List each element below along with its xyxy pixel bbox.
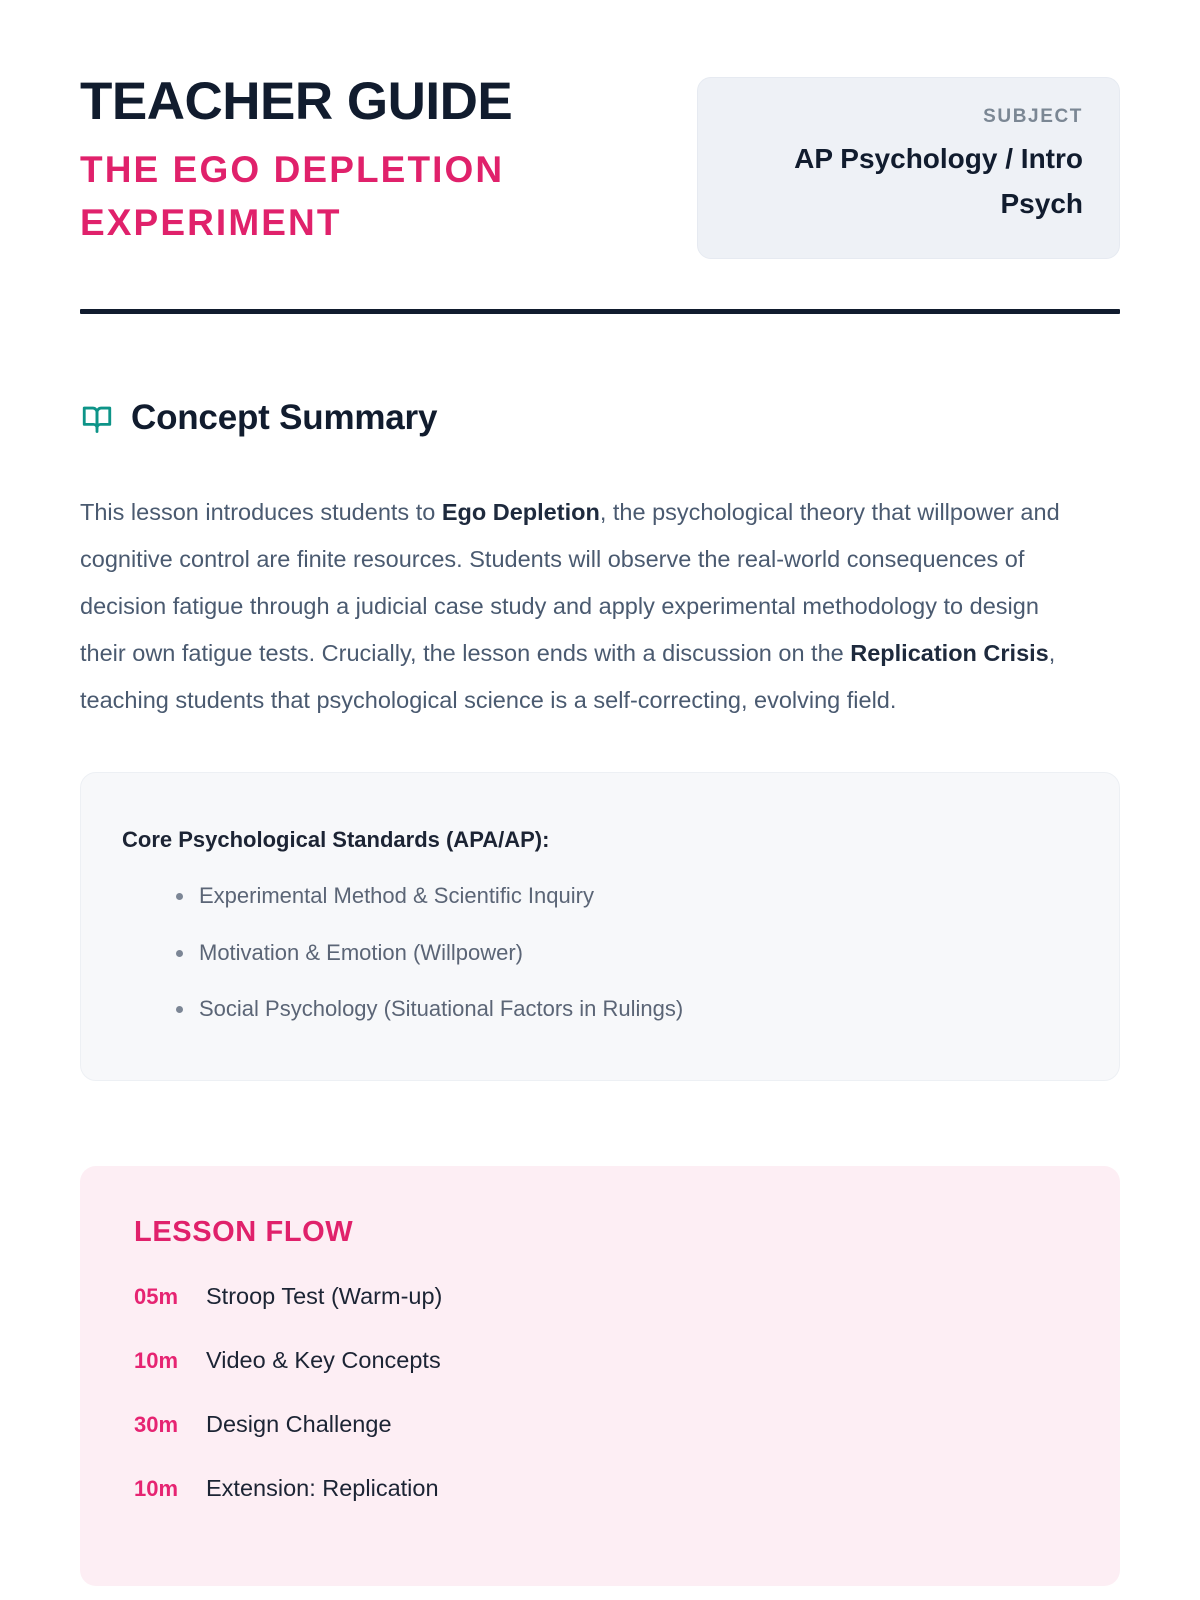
subject-value: AP Psychology / Intro Psych bbox=[734, 137, 1083, 227]
concept-summary-heading: Concept Summary bbox=[80, 398, 1120, 438]
lesson-flow-card: LESSON FLOW 05m Stroop Test (Warm-up) 10… bbox=[80, 1166, 1120, 1586]
lesson-flow-row: 10m Video & Key Concepts bbox=[134, 1347, 1066, 1374]
standards-box: Core Psychological Standards (APA/AP): E… bbox=[80, 772, 1120, 1081]
lesson-flow-duration: 10m bbox=[134, 1348, 206, 1374]
lesson-flow-label: Design Challenge bbox=[206, 1411, 392, 1438]
open-book-icon bbox=[80, 401, 114, 435]
page-subtitle: THE EGO DEPLETION EXPERIMENT bbox=[80, 144, 580, 249]
teacher-guide-page: TEACHER GUIDE THE EGO DEPLETION EXPERIME… bbox=[0, 0, 1200, 1600]
page-header: TEACHER GUIDE THE EGO DEPLETION EXPERIME… bbox=[80, 0, 1120, 259]
subject-label: SUBJECT bbox=[734, 106, 1083, 128]
standards-title: Core Psychological Standards (APA/AP): bbox=[122, 827, 1079, 853]
list-item: Social Psychology (Situational Factors i… bbox=[121, 994, 1079, 1024]
concept-summary-paragraph: This lesson introduces students to Ego D… bbox=[80, 489, 1080, 724]
lesson-flow-duration: 10m bbox=[134, 1476, 206, 1502]
lesson-flow-duration: 05m bbox=[134, 1284, 206, 1310]
header-divider bbox=[80, 309, 1120, 314]
lesson-flow-title: LESSON FLOW bbox=[134, 1216, 1066, 1249]
list-item: Motivation & Emotion (Willpower) bbox=[121, 938, 1079, 968]
standards-list: Experimental Method & Scientific Inquiry… bbox=[121, 881, 1079, 1024]
section-title: Concept Summary bbox=[131, 398, 437, 438]
lesson-flow-label: Extension: Replication bbox=[206, 1475, 439, 1502]
lesson-flow-row: 10m Extension: Replication bbox=[134, 1475, 1066, 1502]
lesson-flow-label: Video & Key Concepts bbox=[206, 1347, 441, 1374]
lesson-flow-row: 05m Stroop Test (Warm-up) bbox=[134, 1283, 1066, 1310]
title-block: TEACHER GUIDE THE EGO DEPLETION EXPERIME… bbox=[80, 74, 580, 249]
list-item: Experimental Method & Scientific Inquiry bbox=[121, 881, 1079, 911]
lesson-flow-duration: 30m bbox=[134, 1412, 206, 1438]
lesson-flow-row: 30m Design Challenge bbox=[134, 1411, 1066, 1438]
lesson-flow-list: 05m Stroop Test (Warm-up) 10m Video & Ke… bbox=[134, 1283, 1066, 1502]
lesson-flow-label: Stroop Test (Warm-up) bbox=[206, 1283, 442, 1310]
subject-card: SUBJECT AP Psychology / Intro Psych bbox=[697, 77, 1120, 259]
page-title: TEACHER GUIDE bbox=[80, 74, 580, 130]
